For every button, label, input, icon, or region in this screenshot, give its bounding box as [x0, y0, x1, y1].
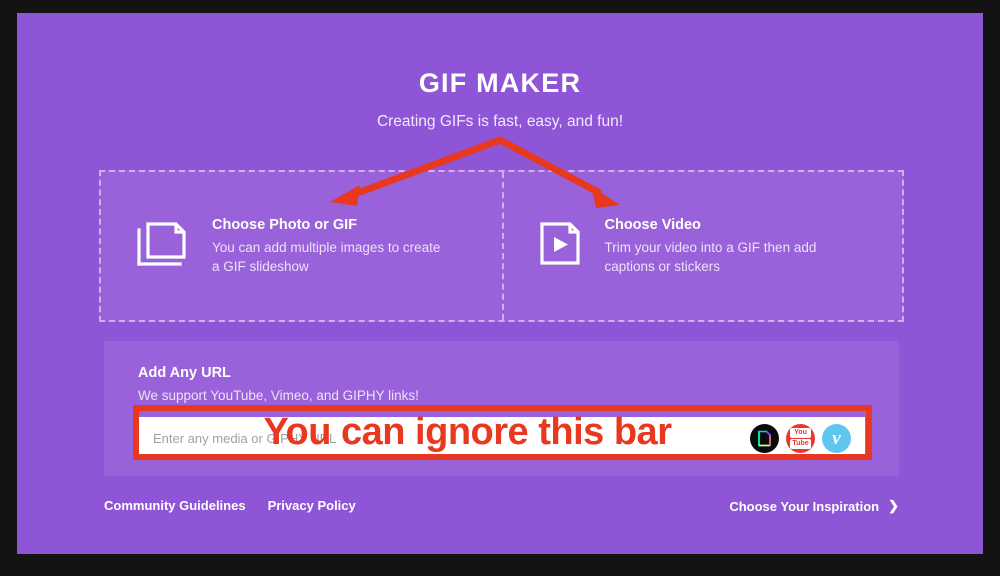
choose-inspiration-link[interactable]: Choose Your Inspiration ❯	[729, 498, 899, 514]
privacy-policy-link[interactable]: Privacy Policy	[268, 498, 356, 513]
vimeo-glyph: v	[832, 429, 840, 448]
community-guidelines-link[interactable]: Community Guidelines	[104, 498, 246, 513]
vimeo-icon[interactable]: v	[822, 424, 851, 453]
gif-maker-page: GIF MAKER Creating GIFs is fast, easy, a…	[17, 13, 983, 554]
footer-left-links: Community Guidelines Privacy Policy	[104, 498, 356, 513]
supported-services-icons: You Tube v	[750, 424, 865, 453]
choose-video-desc-line2: captions or stickers	[605, 257, 891, 276]
choose-video-option[interactable]: Choose Video Trim your video into a GIF …	[502, 172, 903, 320]
add-url-panel: Add Any URL We support YouTube, Vimeo, a…	[104, 341, 899, 476]
add-url-subtitle: We support YouTube, Vimeo, and GIPHY lin…	[138, 388, 419, 403]
page-subtitle: Creating GIFs is fast, easy, and fun!	[17, 113, 983, 131]
choose-photo-text-block: Choose Photo or GIF You can add multiple…	[212, 217, 502, 276]
choose-photo-or-gif-option[interactable]: Choose Photo or GIF You can add multiple…	[101, 172, 502, 320]
page-title: GIF MAKER	[17, 68, 983, 99]
giphy-icon[interactable]	[750, 424, 779, 453]
youtube-glyph: You Tube	[790, 428, 810, 449]
url-input[interactable]	[138, 431, 750, 446]
choose-photo-desc-line2: a GIF slideshow	[212, 257, 490, 276]
footer: Community Guidelines Privacy Policy Choo…	[104, 493, 899, 523]
upload-choices-panel: Choose Photo or GIF You can add multiple…	[99, 170, 904, 322]
choose-video-title: Choose Video	[605, 217, 891, 233]
url-input-container[interactable]: You Tube v	[138, 417, 865, 459]
choose-video-text-block: Choose Video Trim your video into a GIF …	[605, 217, 903, 276]
chevron-right-icon: ❯	[888, 498, 899, 514]
choose-photo-desc-line1: You can add multiple images to create	[212, 238, 490, 257]
youtube-label-top: You	[790, 428, 810, 438]
choose-photo-title: Choose Photo or GIF	[212, 217, 490, 233]
add-url-title: Add Any URL	[138, 365, 231, 381]
choose-inspiration-label: Choose Your Inspiration	[729, 499, 879, 514]
youtube-label-bottom: Tube	[790, 439, 810, 449]
video-file-icon	[537, 220, 585, 273]
photo-stack-icon	[136, 220, 192, 273]
choose-video-desc-line1: Trim your video into a GIF then add	[605, 238, 891, 257]
screenshot-root: GIF MAKER Creating GIFs is fast, easy, a…	[0, 0, 1000, 576]
youtube-icon[interactable]: You Tube	[786, 424, 815, 453]
